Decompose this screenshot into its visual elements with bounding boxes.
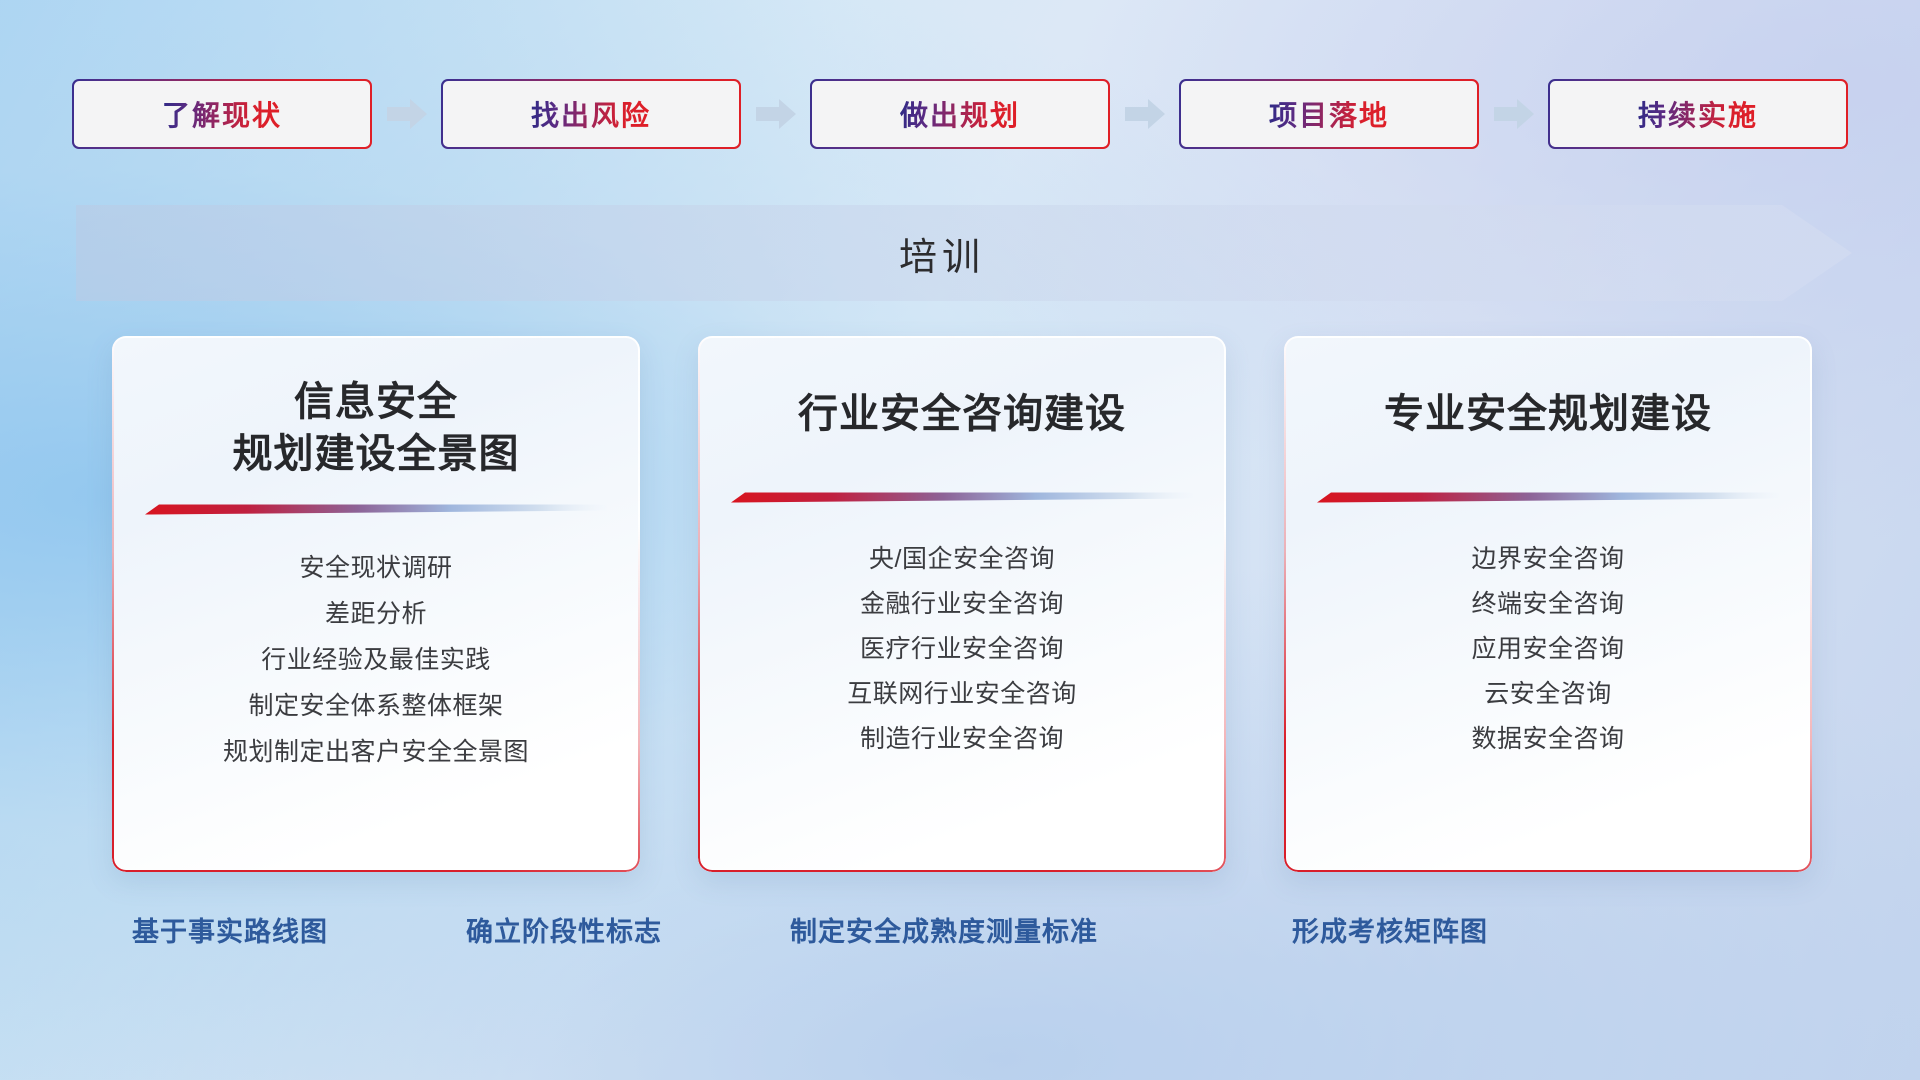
- list-item[interactable]: 制定安全体系整体框架: [138, 683, 614, 729]
- card-divider-2: [731, 492, 1193, 503]
- card-information-security-blueprint[interactable]: 信息安全 规划建设全景图: [112, 336, 640, 872]
- card-divider-3: [1317, 492, 1779, 503]
- list-item[interactable]: 央/国企安全咨询: [724, 537, 1200, 582]
- card-title-1: 信息安全 规划建设全景图: [233, 370, 520, 480]
- list-item[interactable]: 边界安全咨询: [1310, 537, 1786, 582]
- step-arrow-icon-2: [754, 97, 798, 131]
- step-label-1: 了解现状: [162, 94, 282, 134]
- step-box-1[interactable]: 了解现状: [72, 79, 372, 149]
- footer-label-row: 基于事实路线图 确立阶段性标志 制定安全成熟度测量标准 形成考核矩阵图: [0, 910, 1920, 962]
- list-item[interactable]: 医疗行业安全咨询: [724, 627, 1200, 672]
- card-title-2: 行业安全咨询建设: [798, 370, 1126, 440]
- list-item[interactable]: 云安全咨询: [1310, 672, 1786, 717]
- card-title-3: 专业安全规划建设: [1384, 370, 1712, 440]
- list-item[interactable]: 制造行业安全咨询: [724, 717, 1200, 762]
- banner-title: 培训: [76, 205, 1852, 301]
- training-banner: 培训: [76, 205, 1852, 301]
- step-box-3[interactable]: 做出规划: [810, 79, 1110, 149]
- step-box-4[interactable]: 项目落地: [1179, 79, 1479, 149]
- step-label-3: 做出规划: [900, 94, 1020, 134]
- step-label-5: 持续实施: [1638, 94, 1758, 134]
- step-arrow-icon-4: [1492, 97, 1536, 131]
- card-list-3: 边界安全咨询 终端安全咨询 应用安全咨询 云安全咨询 数据安全咨询: [1310, 537, 1786, 762]
- list-item[interactable]: 差距分析: [138, 591, 614, 637]
- footer-label-3: 制定安全成熟度测量标准: [790, 910, 1098, 949]
- footer-label-2: 确立阶段性标志: [466, 910, 662, 949]
- card-list-2: 央/国企安全咨询 金融行业安全咨询 医疗行业安全咨询 互联网行业安全咨询 制造行…: [724, 537, 1200, 762]
- card-row: 信息安全 规划建设全景图: [112, 336, 1812, 872]
- list-item[interactable]: 数据安全咨询: [1310, 717, 1786, 762]
- list-item[interactable]: 金融行业安全咨询: [724, 582, 1200, 627]
- step-box-5[interactable]: 持续实施: [1548, 79, 1848, 149]
- list-item[interactable]: 安全现状调研: [138, 545, 614, 591]
- process-step-row: 了解现状 找出风险 做出规划 项目落地 持续实施: [72, 78, 1848, 150]
- footer-label-4: 形成考核矩阵图: [1292, 910, 1488, 949]
- list-item[interactable]: 应用安全咨询: [1310, 627, 1786, 672]
- footer-label-1: 基于事实路线图: [132, 910, 328, 949]
- card-industry-security-consulting[interactable]: 行业安全咨询建设: [698, 336, 1226, 872]
- list-item[interactable]: 互联网行业安全咨询: [724, 672, 1200, 717]
- step-box-2[interactable]: 找出风险: [441, 79, 741, 149]
- card-list-1: 安全现状调研 差距分析 行业经验及最佳实践 制定安全体系整体框架 规划制定出客户…: [138, 545, 614, 775]
- list-item[interactable]: 终端安全咨询: [1310, 582, 1786, 627]
- card-divider-1: [145, 504, 607, 515]
- step-label-4: 项目落地: [1269, 94, 1389, 134]
- step-arrow-icon-1: [385, 97, 429, 131]
- slide-canvas: 了解现状 找出风险 做出规划 项目落地 持续实施: [0, 0, 1920, 1080]
- step-arrow-icon-3: [1123, 97, 1167, 131]
- step-label-2: 找出风险: [531, 94, 651, 134]
- list-item[interactable]: 行业经验及最佳实践: [138, 637, 614, 683]
- list-item[interactable]: 规划制定出客户安全全景图: [138, 729, 614, 775]
- card-professional-security-planning[interactable]: 专业安全规划建设: [1284, 336, 1812, 872]
